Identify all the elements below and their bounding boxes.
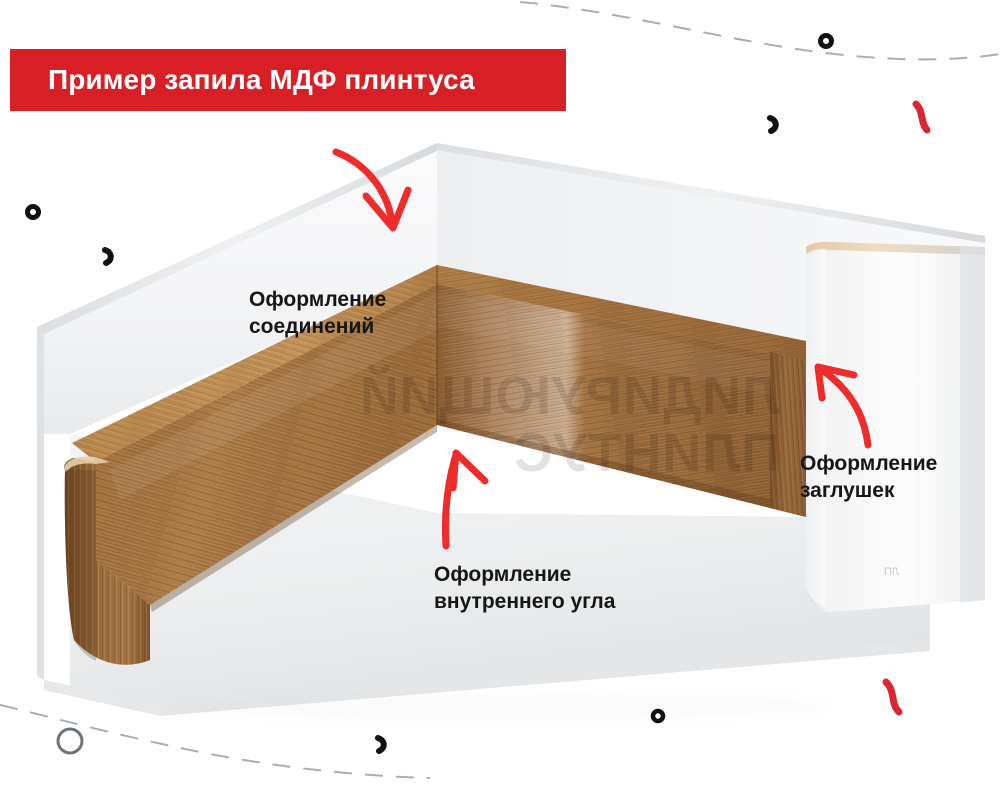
- annotation-end-caps: Оформление заглушек: [800, 451, 937, 505]
- poster-canvas: ЛИДИРУЮЩИЙ ПЛИНТУС ЛП: [0, 0, 1000, 800]
- banner-title: Пример запила МДФ плинтуса: [48, 64, 475, 96]
- baseboard-corner-illustration: [0, 0, 1000, 800]
- annotation-inner-corner: Оформление внутреннего угла: [434, 562, 615, 616]
- white-endcap-plinth: [806, 242, 985, 612]
- title-banner: Пример запила МДФ плинтуса: [10, 49, 566, 111]
- annotation-joints: Оформление соединений: [249, 287, 386, 341]
- brandmark: ЛП: [884, 566, 899, 578]
